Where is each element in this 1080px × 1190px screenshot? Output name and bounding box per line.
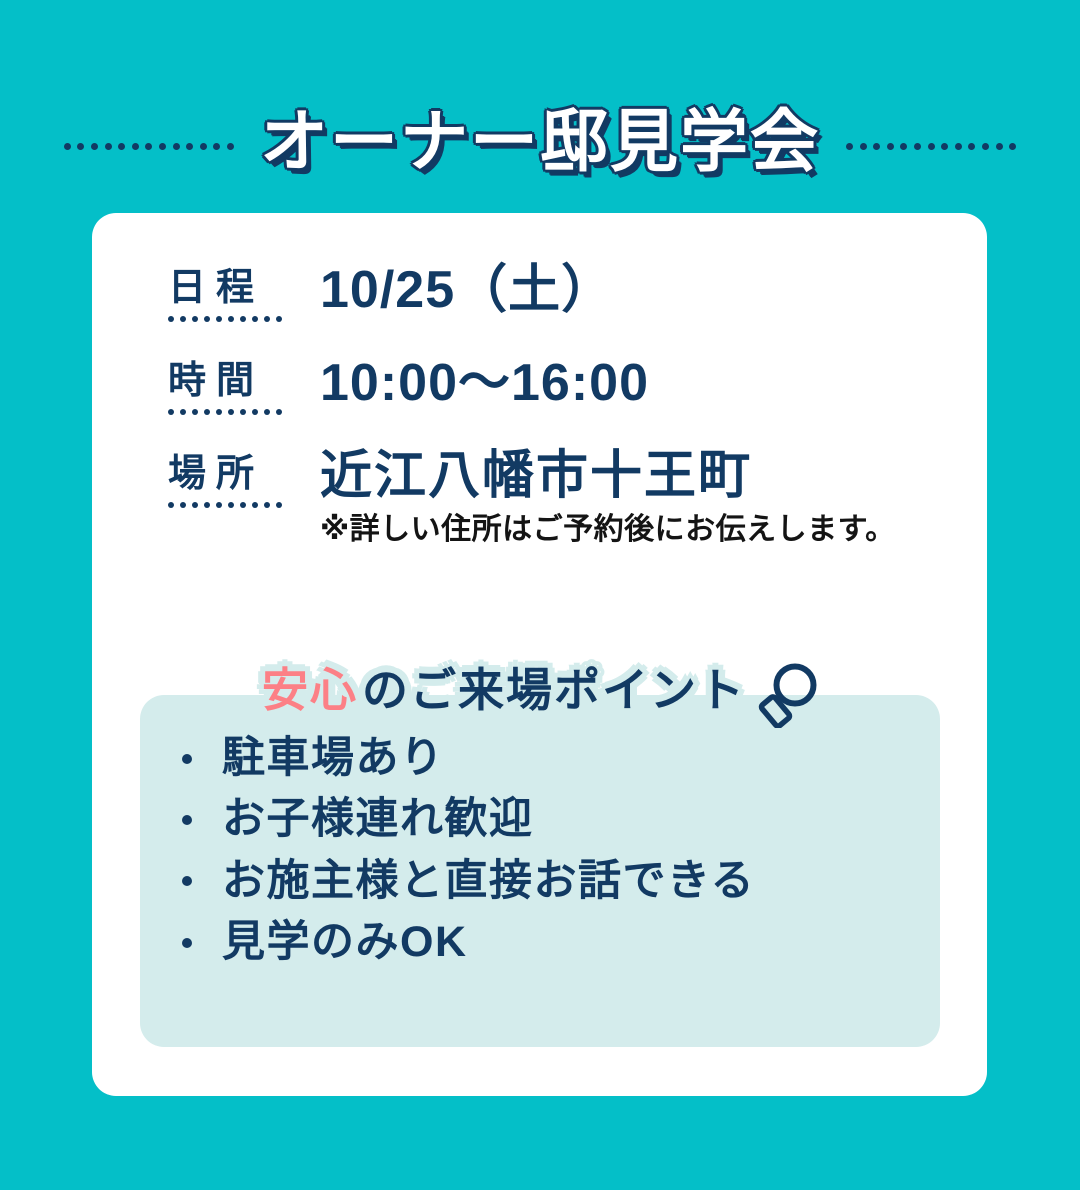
decorative-dot <box>186 143 193 150</box>
header-title-row: オーナー邸見学会 <box>0 96 1080 188</box>
detail-label-time-wrap: 時間 <box>166 356 288 415</box>
title-dots-right <box>846 143 1016 150</box>
decorative-dot <box>91 143 98 150</box>
decorative-dot <box>200 143 207 150</box>
decorative-dot <box>159 143 166 150</box>
detail-label-place-underline <box>166 502 288 508</box>
decorative-dot <box>64 143 71 150</box>
decorative-dot <box>252 502 258 508</box>
page-title: オーナー邸見学会 <box>260 108 820 176</box>
decorative-dot <box>145 143 152 150</box>
decorative-dot <box>873 143 880 150</box>
decorative-dot <box>860 143 867 150</box>
detail-value-place: 近江八幡市十王町 <box>320 449 896 504</box>
list-item-label: お子様連れ歓迎 <box>222 796 534 843</box>
decorative-dot <box>213 143 220 150</box>
decorative-dot <box>240 409 246 415</box>
decorative-dot <box>240 502 246 508</box>
bullet-icon <box>182 938 192 948</box>
decorative-dot <box>105 143 112 150</box>
decorative-dot <box>168 502 174 508</box>
list-item: 見学のみOK <box>178 919 920 966</box>
decorative-dot <box>227 143 234 150</box>
detail-label-time-underline <box>166 409 288 415</box>
bullet-icon <box>182 754 192 764</box>
decorative-dot <box>180 409 186 415</box>
decorative-dot <box>264 502 270 508</box>
visit-points-heading-accent: 安心 <box>262 667 358 713</box>
decorative-dot <box>180 502 186 508</box>
detail-label-date-underline <box>166 316 288 322</box>
detail-value-place-wrap: 近江八幡市十王町 ※詳しい住所はご予約後にお伝えします。 <box>288 449 896 548</box>
decorative-dot <box>914 143 921 150</box>
decorative-dot <box>968 143 975 150</box>
decorative-dot <box>192 316 198 322</box>
list-item: 駐車場あり <box>178 735 920 782</box>
event-details-list: 日程 10/25（土） 時間 10:00〜16:00 場所 近 <box>166 263 966 548</box>
decorative-dot <box>996 143 1003 150</box>
decorative-dot <box>204 409 210 415</box>
detail-value-time-wrap: 10:00〜16:00 <box>288 356 649 411</box>
decorative-dot <box>955 143 962 150</box>
detail-label-time: 時間 <box>166 362 288 400</box>
decorative-dot <box>132 143 139 150</box>
decorative-dot <box>276 502 282 508</box>
detail-label-date-wrap: 日程 <box>166 263 288 322</box>
decorative-dot <box>216 409 222 415</box>
decorative-dot <box>204 316 210 322</box>
list-item: お施主様と直接お話できる <box>178 858 920 905</box>
visit-points-list: 駐車場あり お子様連れ歓迎 お施主様と直接お話できる 見学のみOK <box>178 735 920 980</box>
decorative-dot <box>216 502 222 508</box>
detail-label-date: 日程 <box>166 269 288 307</box>
detail-value-date-wrap: 10/25（土） <box>288 263 614 318</box>
detail-label-place: 場所 <box>166 455 288 493</box>
visit-points-box: 駐車場あり お子様連れ歓迎 お施主様と直接お話できる 見学のみOK <box>140 695 940 1047</box>
detail-row-date: 日程 10/25（土） <box>166 263 966 322</box>
decorative-dot <box>168 316 174 322</box>
decorative-dot <box>240 316 246 322</box>
list-item: お子様連れ歓迎 <box>178 796 920 843</box>
decorative-dot <box>982 143 989 150</box>
decorative-dot <box>252 409 258 415</box>
decorative-dot <box>887 143 894 150</box>
list-item-label: お施主様と直接お話できる <box>222 858 755 905</box>
decorative-dot <box>252 316 258 322</box>
decorative-dot <box>180 316 186 322</box>
detail-value-date: 10/25（土） <box>320 263 614 318</box>
list-item-label: 見学のみOK <box>222 919 468 966</box>
decorative-dot <box>192 502 198 508</box>
decorative-dot <box>276 409 282 415</box>
detail-row-place: 場所 近江八幡市十王町 ※詳しい住所はご予約後にお伝えします。 <box>166 449 966 548</box>
decorative-dot <box>264 409 270 415</box>
title-dots-left <box>64 143 234 150</box>
decorative-dot <box>228 409 234 415</box>
visit-points-heading: 安心 のご来場ポイント <box>140 655 940 725</box>
decorative-dot <box>204 502 210 508</box>
decorative-dot <box>216 316 222 322</box>
event-info-card: 日程 10/25（土） 時間 10:00〜16:00 場所 近 <box>92 213 987 1096</box>
decorative-dot <box>118 143 125 150</box>
decorative-dot <box>228 502 234 508</box>
decorative-dot <box>77 143 84 150</box>
decorative-dot <box>941 143 948 150</box>
decorative-dot <box>846 143 853 150</box>
decorative-dot <box>192 409 198 415</box>
decorative-dot <box>168 409 174 415</box>
decorative-dot <box>173 143 180 150</box>
decorative-dot <box>228 316 234 322</box>
magnifier-icon <box>756 662 818 728</box>
detail-label-place-wrap: 場所 <box>166 449 288 508</box>
decorative-dot <box>1009 143 1016 150</box>
decorative-dot <box>276 316 282 322</box>
decorative-dot <box>900 143 907 150</box>
bullet-icon <box>182 815 192 825</box>
visit-points-heading-rest: のご来場ポイント <box>362 667 746 713</box>
detail-note-place: ※詳しい住所はご予約後にお伝えします。 <box>320 512 896 548</box>
bullet-icon <box>182 876 192 886</box>
detail-value-time: 10:00〜16:00 <box>320 356 649 411</box>
list-item-label: 駐車場あり <box>222 735 445 782</box>
decorative-dot <box>928 143 935 150</box>
decorative-dot <box>264 316 270 322</box>
detail-row-time: 時間 10:00〜16:00 <box>166 356 966 415</box>
